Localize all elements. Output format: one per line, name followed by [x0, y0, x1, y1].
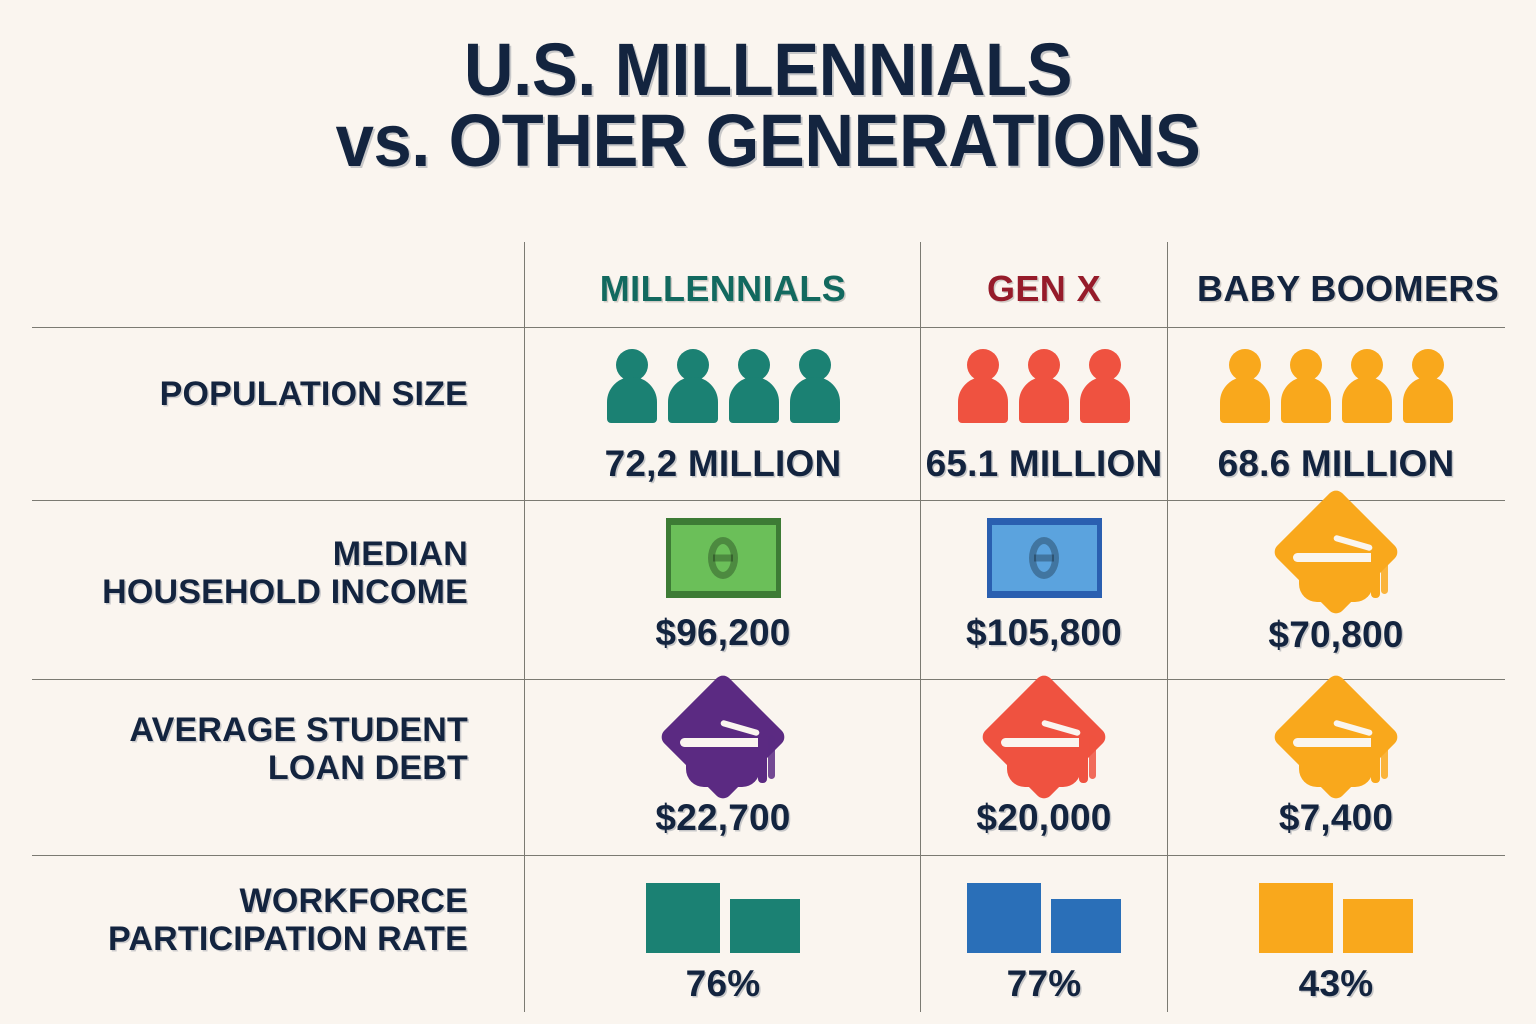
cell-value: 65.1 MILLION	[926, 443, 1163, 485]
bar-pair-icon	[1259, 875, 1413, 953]
person-icon-group	[605, 345, 842, 423]
cell-income-millennials: $96,200	[525, 518, 921, 654]
row-label-workforce-participation-rate: WORKFORCE PARTICIPATION RATE	[32, 882, 494, 958]
cell-value: $105,800	[966, 612, 1122, 654]
table-row: POPULATION SIZE 72,2 MILLION 65.1 MILLIO…	[32, 327, 1505, 500]
cell-loan-baby-boomers: $7,400	[1167, 687, 1505, 839]
cell-loan-millennials: $22,700	[525, 687, 921, 839]
cell-workforce-genx: 77%	[921, 875, 1167, 1005]
person-icon	[1218, 349, 1272, 423]
graduation-cap-icon	[1261, 502, 1411, 606]
column-header-baby-boomers: BABY BOOMERS	[1167, 268, 1536, 310]
cell-value: 43%	[1299, 963, 1374, 1005]
cell-workforce-millennials: 76%	[525, 875, 921, 1005]
cell-value: $20,000	[976, 797, 1111, 839]
cell-value: 77%	[1007, 963, 1082, 1005]
row-label-line-2: HOUSEHOLD INCOME	[32, 573, 468, 611]
banknote-icon	[666, 518, 781, 598]
column-header-genx: GEN X	[921, 268, 1167, 310]
person-icon-group	[1218, 345, 1455, 423]
person-icon	[1017, 349, 1071, 423]
cell-income-baby-boomers: $70,800	[1167, 502, 1505, 656]
table-row: WORKFORCE PARTICIPATION RATE 76% 77% 43%	[32, 855, 1505, 1012]
cell-income-genx: $105,800	[921, 518, 1167, 654]
table-row: MEDIAN HOUSEHOLD INCOME $96,200 $105,800	[32, 500, 1505, 679]
person-icon	[1078, 349, 1132, 423]
row-label-line-2: LOAN DEBT	[32, 749, 468, 787]
row-label-line-1: AVERAGE STUDENT	[32, 711, 468, 749]
cell-value: 68.6 MILLION	[1218, 443, 1455, 485]
cell-value: $22,700	[655, 797, 790, 839]
bar-pair-icon	[646, 875, 800, 953]
person-icon	[1279, 349, 1333, 423]
cell-value: $96,200	[655, 612, 790, 654]
cell-population-baby-boomers: 68.6 MILLION	[1167, 345, 1505, 485]
title-line-1: U.S. MILLENNIALS	[54, 34, 1482, 105]
table-row: AVERAGE STUDENT LOAN DEBT $22,700	[32, 679, 1505, 855]
row-label-median-household-income: MEDIAN HOUSEHOLD INCOME	[32, 535, 494, 611]
row-label-line-1: WORKFORCE	[32, 882, 468, 920]
person-icon	[1401, 349, 1455, 423]
graduation-cap-icon	[969, 687, 1119, 791]
cell-workforce-baby-boomers: 43%	[1167, 875, 1505, 1005]
title-line-2: vs. OTHER GENERATIONS	[54, 105, 1482, 176]
column-header-millennials: MILLENNIALS	[525, 268, 921, 310]
comparison-table: MILLENNIALS GEN X BABY BOOMERS POPULATIO…	[32, 242, 1505, 1012]
person-icon	[727, 349, 781, 423]
cell-value: 76%	[686, 963, 761, 1005]
person-icon-group	[956, 345, 1132, 423]
cell-population-millennials: 72,2 MILLION	[525, 345, 921, 485]
page-title: U.S. MILLENNIALS vs. OTHER GENERATIONS	[0, 34, 1536, 176]
cell-value: $7,400	[1279, 797, 1393, 839]
cell-loan-genx: $20,000	[921, 687, 1167, 839]
bar-pair-icon	[967, 875, 1121, 953]
graduation-cap-icon	[1261, 687, 1411, 791]
banknote-icon	[987, 518, 1102, 598]
row-label-line-2: PARTICIPATION RATE	[32, 920, 468, 958]
cell-population-genx: 65.1 MILLION	[921, 345, 1167, 485]
cell-value: $70,800	[1268, 614, 1403, 656]
person-icon	[788, 349, 842, 423]
person-icon	[666, 349, 720, 423]
row-label-population-size: POPULATION SIZE	[32, 375, 494, 413]
person-icon	[1340, 349, 1394, 423]
person-icon	[605, 349, 659, 423]
row-label-average-student-loan-debt: AVERAGE STUDENT LOAN DEBT	[32, 711, 494, 787]
row-label-line-1: MEDIAN	[32, 535, 468, 573]
cell-value: 72,2 MILLION	[605, 443, 842, 485]
person-icon	[956, 349, 1010, 423]
graduation-cap-icon	[648, 687, 798, 791]
